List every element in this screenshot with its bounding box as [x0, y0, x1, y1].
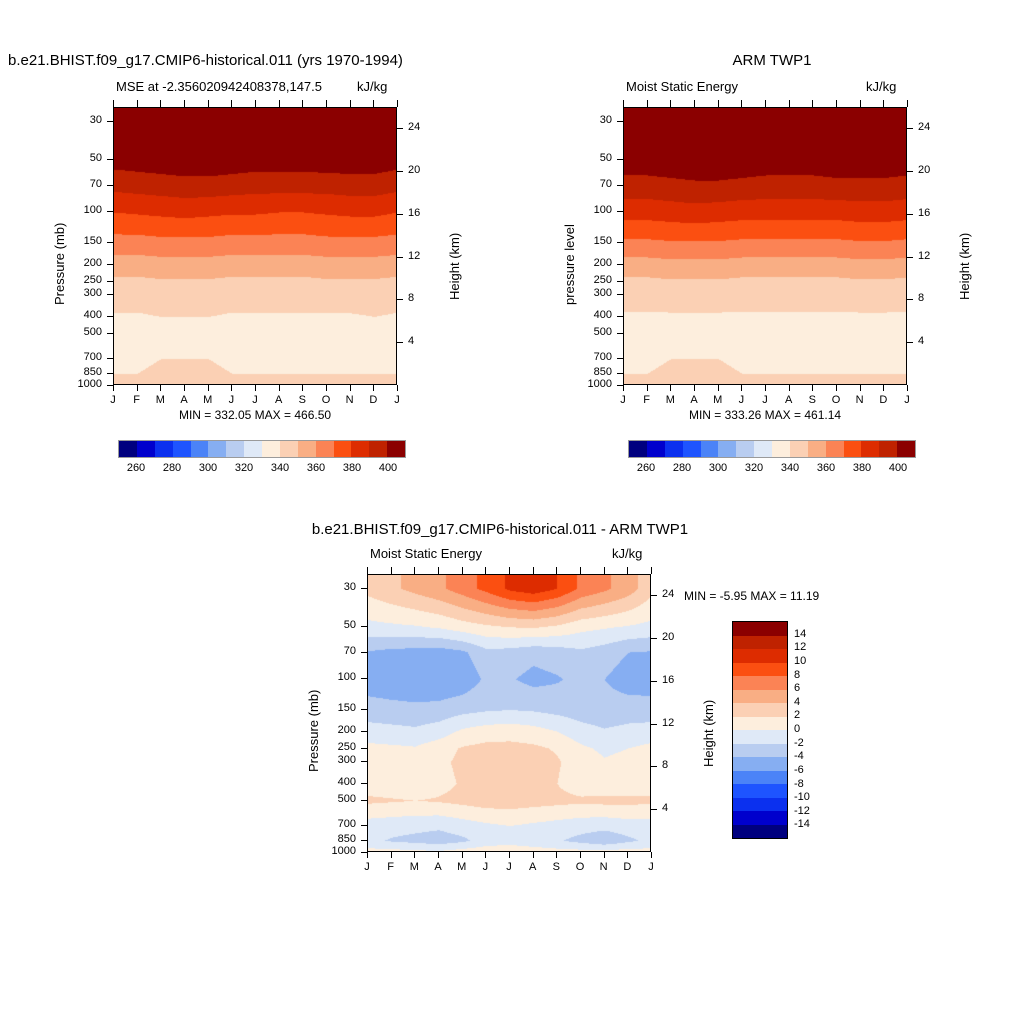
colorbar-label-260: 260 [127, 462, 145, 474]
month-tick-label-11: D [623, 861, 631, 873]
month-tick-mark-top [373, 100, 374, 107]
colorbar-swatch-13 [861, 441, 879, 457]
colorbar-swatch-2 [665, 441, 683, 457]
diff-colorbar-label-8: 8 [794, 669, 800, 681]
colorbar-label-400: 400 [889, 462, 907, 474]
month-tick-mark [231, 385, 232, 391]
pressure-tick-label-400: 400 [338, 776, 356, 788]
pressure-tick-label-500: 500 [594, 326, 612, 338]
pressure-tick-label-150: 150 [338, 702, 356, 714]
height-tick-label-24: 24 [662, 588, 674, 600]
height-tick-label-12: 12 [918, 250, 930, 262]
colorbar-swatch-7 [244, 441, 262, 457]
month-tick-mark-top [604, 567, 605, 574]
pressure-tick-mark [107, 159, 113, 160]
height-tick-label-4: 4 [918, 335, 924, 347]
height-tick-label-8: 8 [408, 292, 414, 304]
month-tick-mark-top [812, 100, 813, 107]
pressure-tick-label-300: 300 [594, 287, 612, 299]
pressure-tick-mark [107, 281, 113, 282]
diff-colorbar-swatch-11 [733, 771, 787, 785]
diff-contour-plot[interactable] [367, 574, 651, 852]
height-tick-mark [907, 257, 913, 258]
diff-colorbar-label-0: 0 [794, 723, 800, 735]
month-tick-mark [326, 385, 327, 391]
month-tick-mark-top [836, 100, 837, 107]
obs-contour-plot[interactable] [623, 107, 907, 385]
pressure-tick-mark [361, 588, 367, 589]
month-tick-label-4: M [457, 861, 466, 873]
diff-colorbar-swatch-2 [733, 649, 787, 663]
month-tick-mark-top [255, 100, 256, 107]
month-tick-mark-top [556, 567, 557, 574]
height-tick-label-12: 12 [408, 250, 420, 262]
colorbar-swatch-0 [629, 441, 647, 457]
diff-colorbar-swatch-9 [733, 744, 787, 758]
pressure-tick-mark [107, 121, 113, 122]
colorbar-swatch-5 [718, 441, 736, 457]
pressure-tick-mark [361, 652, 367, 653]
month-tick-mark-top [718, 100, 719, 107]
height-tick-label-24: 24 [918, 121, 930, 133]
height-tick-mark [397, 214, 403, 215]
pressure-tick-mark [617, 358, 623, 359]
month-tick-label-11: D [369, 394, 377, 406]
absolute-colorbar-model[interactable] [118, 440, 406, 458]
month-tick-mark [651, 852, 652, 858]
month-tick-mark-top [623, 100, 624, 107]
height-tick-mark [397, 171, 403, 172]
pressure-tick-mark [107, 211, 113, 212]
pressure-tick-label-200: 200 [338, 724, 356, 736]
diff-colorbar-label-4: 4 [794, 696, 800, 708]
model-contour-plot[interactable] [113, 107, 397, 385]
month-tick-label-6: J [762, 394, 768, 406]
month-tick-mark [836, 385, 837, 391]
diff-ylabel-height: Height (km) [701, 700, 716, 767]
model-minmax-label: MIN = 332.05 MAX = 466.50 [179, 408, 331, 422]
pressure-tick-mark [107, 358, 113, 359]
absolute-colorbar-obs[interactable] [628, 440, 916, 458]
colorbar-swatch-1 [137, 441, 155, 457]
height-tick-mark [651, 595, 657, 596]
month-tick-mark-top [883, 100, 884, 107]
diff-colorbar-swatch-13 [733, 798, 787, 812]
colorbar-label-300: 300 [199, 462, 217, 474]
pressure-tick-mark [617, 185, 623, 186]
month-tick-mark [883, 385, 884, 391]
colorbar-swatch-9 [280, 441, 298, 457]
month-tick-mark-top [113, 100, 114, 107]
month-tick-mark [533, 852, 534, 858]
colorbar-label-340: 340 [271, 462, 289, 474]
month-tick-mark [391, 852, 392, 858]
pressure-tick-label-30: 30 [344, 581, 356, 593]
diff-colorbar-swatch-1 [733, 636, 787, 650]
pressure-tick-label-500: 500 [84, 326, 102, 338]
month-tick-mark-top [438, 567, 439, 574]
colorbar-swatch-1 [647, 441, 665, 457]
month-tick-mark [765, 385, 766, 391]
colorbar-swatch-12 [334, 441, 352, 457]
diff-subtitle-left: Moist Static Energy [370, 546, 482, 561]
height-tick-label-4: 4 [408, 335, 414, 347]
height-tick-mark [651, 681, 657, 682]
pressure-tick-mark [361, 800, 367, 801]
colorbar-swatch-3 [683, 441, 701, 457]
diff-colorbar-swatch-15 [733, 825, 787, 839]
month-tick-label-1: F [133, 394, 140, 406]
height-tick-label-16: 16 [662, 674, 674, 686]
month-tick-mark-top [647, 100, 648, 107]
month-tick-label-7: A [529, 861, 536, 873]
colorbar-swatch-3 [173, 441, 191, 457]
height-tick-label-12: 12 [662, 717, 674, 729]
colorbar-swatch-9 [790, 441, 808, 457]
month-tick-label-3: A [434, 861, 441, 873]
pressure-tick-label-70: 70 [344, 645, 356, 657]
month-tick-label-0: J [110, 394, 116, 406]
pressure-tick-mark [361, 731, 367, 732]
month-tick-label-4: M [203, 394, 212, 406]
month-tick-mark-top [485, 567, 486, 574]
pressure-tick-label-1000: 1000 [332, 845, 356, 857]
month-tick-mark [647, 385, 648, 391]
month-tick-label-7: A [275, 394, 282, 406]
month-tick-label-1: F [387, 861, 394, 873]
colorbar-label-360: 360 [817, 462, 835, 474]
month-tick-mark [184, 385, 185, 391]
month-tick-mark-top [367, 567, 368, 574]
colorbar-swatch-12 [844, 441, 862, 457]
month-tick-mark [907, 385, 908, 391]
month-tick-mark-top [326, 100, 327, 107]
colorbar-label-360: 360 [307, 462, 325, 474]
month-tick-mark [302, 385, 303, 391]
pressure-tick-label-700: 700 [594, 351, 612, 363]
month-tick-label-4: M [713, 394, 722, 406]
diff-colorbar-label--8: -8 [794, 778, 804, 790]
pressure-tick-mark [617, 333, 623, 334]
colorbar-label-280: 280 [163, 462, 181, 474]
height-tick-label-24: 24 [408, 121, 420, 133]
colorbar-label-380: 380 [343, 462, 361, 474]
colorbar-label-340: 340 [781, 462, 799, 474]
month-tick-mark [623, 385, 624, 391]
pressure-tick-mark [361, 678, 367, 679]
month-tick-label-7: A [785, 394, 792, 406]
month-tick-label-8: S [299, 394, 306, 406]
month-tick-mark-top [533, 567, 534, 574]
obs-ylabel-height: Height (km) [957, 233, 972, 300]
pressure-tick-label-150: 150 [594, 235, 612, 247]
height-tick-mark [907, 171, 913, 172]
colorbar-swatch-15 [387, 441, 405, 457]
pressure-tick-label-70: 70 [90, 178, 102, 190]
pressure-tick-label-100: 100 [84, 204, 102, 216]
month-tick-mark-top [580, 567, 581, 574]
month-tick-mark-top [391, 567, 392, 574]
diff-colorbar-swatch-10 [733, 757, 787, 771]
colorbar-label-320: 320 [745, 462, 763, 474]
pressure-tick-mark [617, 316, 623, 317]
colorbar-swatch-14 [879, 441, 897, 457]
obs-subtitle-left: Moist Static Energy [626, 79, 738, 94]
height-tick-label-16: 16 [408, 207, 420, 219]
height-tick-mark [651, 638, 657, 639]
height-tick-mark [651, 766, 657, 767]
colorbar-swatch-11 [316, 441, 334, 457]
month-tick-mark-top [208, 100, 209, 107]
month-tick-mark-top [279, 100, 280, 107]
colorbar-swatch-0 [119, 441, 137, 457]
pressure-tick-label-50: 50 [344, 619, 356, 631]
diff-minmax-label: MIN = -5.95 MAX = 11.19 [684, 589, 819, 603]
month-tick-mark [812, 385, 813, 391]
colorbar-label-380: 380 [853, 462, 871, 474]
pressure-tick-mark [107, 316, 113, 317]
month-tick-label-9: O [322, 394, 331, 406]
difference-colorbar[interactable] [732, 621, 788, 839]
month-tick-label-9: O [576, 861, 585, 873]
month-tick-mark [556, 852, 557, 858]
month-tick-mark-top [350, 100, 351, 107]
colorbar-swatch-7 [754, 441, 772, 457]
pressure-tick-label-850: 850 [84, 366, 102, 378]
height-tick-mark [907, 299, 913, 300]
month-tick-mark-top [670, 100, 671, 107]
pressure-tick-label-300: 300 [338, 754, 356, 766]
month-tick-label-0: J [364, 861, 370, 873]
pressure-tick-label-100: 100 [338, 671, 356, 683]
diff-units-label: kJ/kg [612, 546, 642, 561]
height-tick-label-4: 4 [662, 802, 668, 814]
colorbar-label-280: 280 [673, 462, 691, 474]
month-tick-mark-top [907, 100, 908, 107]
pressure-tick-mark [617, 281, 623, 282]
model-contour-canvas [114, 108, 397, 385]
height-tick-label-20: 20 [662, 631, 674, 643]
month-tick-mark [279, 385, 280, 391]
pressure-tick-mark [107, 185, 113, 186]
pressure-tick-mark [107, 373, 113, 374]
month-tick-mark [580, 852, 581, 858]
diff-contour-canvas [368, 575, 651, 852]
month-tick-mark [627, 852, 628, 858]
month-tick-mark [670, 385, 671, 391]
month-tick-mark [414, 852, 415, 858]
month-tick-mark-top [765, 100, 766, 107]
obs-units-label: kJ/kg [866, 79, 896, 94]
pressure-tick-label-700: 700 [338, 818, 356, 830]
pressure-tick-label-50: 50 [600, 152, 612, 164]
pressure-tick-label-1000: 1000 [78, 378, 102, 390]
month-tick-mark-top [462, 567, 463, 574]
month-tick-mark [860, 385, 861, 391]
month-tick-mark-top [184, 100, 185, 107]
colorbar-swatch-6 [226, 441, 244, 457]
month-tick-label-5: J [739, 394, 745, 406]
pressure-tick-label-30: 30 [600, 114, 612, 126]
diff-colorbar-label--14: -14 [794, 818, 810, 830]
diff-colorbar-swatch-0 [733, 622, 787, 636]
diff-colorbar-label--6: -6 [794, 764, 804, 776]
pressure-tick-label-200: 200 [84, 257, 102, 269]
month-tick-mark [113, 385, 114, 391]
pressure-tick-label-150: 150 [84, 235, 102, 247]
pressure-tick-mark [107, 242, 113, 243]
height-tick-mark [907, 342, 913, 343]
pressure-tick-label-50: 50 [90, 152, 102, 164]
height-tick-mark [397, 257, 403, 258]
model-ylabel-height: Height (km) [447, 233, 462, 300]
pressure-tick-label-850: 850 [594, 366, 612, 378]
pressure-tick-label-250: 250 [338, 741, 356, 753]
colorbar-label-320: 320 [235, 462, 253, 474]
height-tick-mark [907, 214, 913, 215]
month-tick-mark-top [302, 100, 303, 107]
month-tick-label-10: N [600, 861, 608, 873]
diff-colorbar-label-12: 12 [794, 641, 806, 653]
month-tick-mark-top [651, 567, 652, 574]
colorbar-swatch-6 [736, 441, 754, 457]
obs-ylabel-pressure: pressure level [562, 224, 577, 305]
pressure-tick-label-1000: 1000 [588, 378, 612, 390]
month-tick-label-5: J [483, 861, 489, 873]
month-tick-mark-top [694, 100, 695, 107]
diff-colorbar-swatch-8 [733, 730, 787, 744]
pressure-tick-mark [107, 333, 113, 334]
month-tick-label-3: A [180, 394, 187, 406]
pressure-tick-label-500: 500 [338, 793, 356, 805]
month-tick-mark [694, 385, 695, 391]
month-tick-mark-top [789, 100, 790, 107]
height-tick-mark [397, 342, 403, 343]
colorbar-swatch-10 [808, 441, 826, 457]
colorbar-swatch-8 [262, 441, 280, 457]
diff-colorbar-swatch-12 [733, 784, 787, 798]
pressure-tick-mark [361, 748, 367, 749]
pressure-tick-label-300: 300 [84, 287, 102, 299]
height-tick-mark [397, 128, 403, 129]
month-tick-mark-top [627, 567, 628, 574]
pressure-tick-mark [361, 761, 367, 762]
height-tick-label-20: 20 [918, 164, 930, 176]
pressure-tick-mark [617, 121, 623, 122]
month-tick-mark [718, 385, 719, 391]
month-tick-label-12: J [648, 861, 654, 873]
pressure-tick-mark [107, 294, 113, 295]
pressure-tick-label-250: 250 [594, 274, 612, 286]
diff-colorbar-label--2: -2 [794, 737, 804, 749]
month-tick-label-3: A [690, 394, 697, 406]
month-tick-mark-top [741, 100, 742, 107]
colorbar-swatch-15 [897, 441, 915, 457]
colorbar-swatch-4 [701, 441, 719, 457]
pressure-tick-label-30: 30 [90, 114, 102, 126]
month-tick-label-8: S [553, 861, 560, 873]
obs-contour-canvas [624, 108, 907, 385]
height-tick-label-8: 8 [918, 292, 924, 304]
colorbar-swatch-5 [208, 441, 226, 457]
pressure-tick-mark [361, 825, 367, 826]
month-tick-label-6: J [252, 394, 258, 406]
pressure-tick-mark [617, 294, 623, 295]
month-tick-mark [509, 852, 510, 858]
month-tick-mark [789, 385, 790, 391]
pressure-tick-mark [617, 159, 623, 160]
month-tick-label-5: J [229, 394, 235, 406]
pressure-tick-label-100: 100 [594, 204, 612, 216]
colorbar-swatch-10 [298, 441, 316, 457]
obs-panel-title: ARM TWP1 [733, 52, 812, 69]
diff-colorbar-swatch-14 [733, 811, 787, 825]
month-tick-label-0: J [620, 394, 626, 406]
month-tick-label-9: O [832, 394, 841, 406]
month-tick-mark [367, 852, 368, 858]
pressure-tick-label-70: 70 [600, 178, 612, 190]
model-panel-title: b.e21.BHIST.f09_g17.CMIP6-historical.011… [8, 52, 403, 69]
pressure-tick-mark [361, 709, 367, 710]
pressure-tick-mark [617, 211, 623, 212]
month-tick-label-2: M [156, 394, 165, 406]
diff-colorbar-swatch-5 [733, 690, 787, 704]
height-tick-label-16: 16 [918, 207, 930, 219]
height-tick-label-8: 8 [662, 759, 668, 771]
diff-colorbar-swatch-6 [733, 703, 787, 717]
diff-colorbar-swatch-4 [733, 676, 787, 690]
month-tick-mark-top [414, 567, 415, 574]
colorbar-swatch-4 [191, 441, 209, 457]
pressure-tick-label-700: 700 [84, 351, 102, 363]
month-tick-label-2: M [666, 394, 675, 406]
diff-colorbar-label-2: 2 [794, 709, 800, 721]
month-tick-mark [741, 385, 742, 391]
pressure-tick-mark [361, 840, 367, 841]
month-tick-mark-top [231, 100, 232, 107]
model-subtitle-left: MSE at -2.356020942408378,147.5 [116, 79, 322, 94]
height-tick-mark [651, 809, 657, 810]
obs-minmax-label: MIN = 333.26 MAX = 461.14 [689, 408, 841, 422]
colorbar-swatch-14 [369, 441, 387, 457]
diff-colorbar-label--4: -4 [794, 750, 804, 762]
pressure-tick-label-200: 200 [594, 257, 612, 269]
colorbar-label-400: 400 [379, 462, 397, 474]
colorbar-swatch-2 [155, 441, 173, 457]
pressure-tick-mark [617, 264, 623, 265]
diff-colorbar-label-6: 6 [794, 682, 800, 694]
colorbar-swatch-13 [351, 441, 369, 457]
height-tick-label-20: 20 [408, 164, 420, 176]
month-tick-label-12: J [394, 394, 400, 406]
month-tick-mark-top [397, 100, 398, 107]
month-tick-mark [160, 385, 161, 391]
month-tick-mark [397, 385, 398, 391]
height-tick-mark [907, 128, 913, 129]
month-tick-label-11: D [879, 394, 887, 406]
month-tick-label-6: J [506, 861, 512, 873]
model-units-label: kJ/kg [357, 79, 387, 94]
month-tick-mark [208, 385, 209, 391]
pressure-tick-label-400: 400 [594, 309, 612, 321]
colorbar-swatch-11 [826, 441, 844, 457]
month-tick-label-2: M [410, 861, 419, 873]
pressure-tick-label-400: 400 [84, 309, 102, 321]
month-tick-mark [604, 852, 605, 858]
colorbar-label-300: 300 [709, 462, 727, 474]
height-tick-mark [397, 299, 403, 300]
pressure-tick-mark [361, 783, 367, 784]
